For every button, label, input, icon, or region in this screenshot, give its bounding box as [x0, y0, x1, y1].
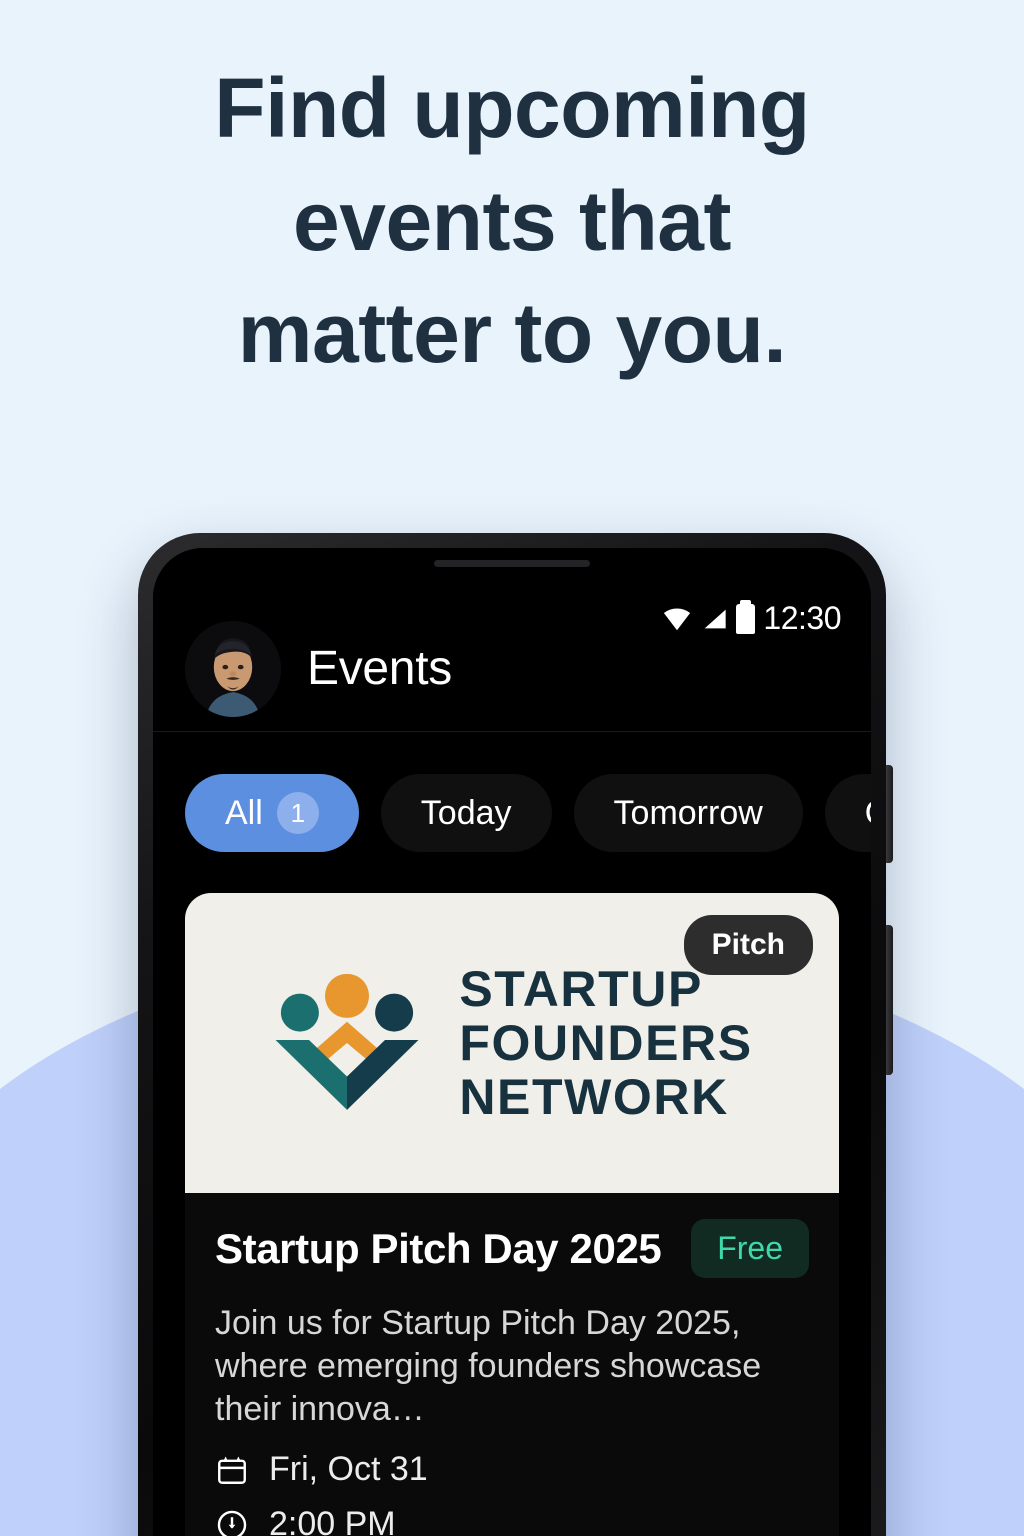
- event-title-row: Startup Pitch Day 2025 Free: [215, 1219, 809, 1278]
- filter-chip-today[interactable]: Today: [381, 774, 552, 852]
- logo-word-3: NETWORK: [459, 1070, 752, 1124]
- filter-chip-all[interactable]: All 1: [185, 774, 359, 852]
- filter-chip-tomorrow-label: Tomorrow: [614, 794, 763, 833]
- event-category-badge: Pitch: [684, 915, 813, 975]
- headline-line-2: events that: [90, 165, 934, 278]
- calendar-icon: [215, 1453, 249, 1487]
- filter-chip-oct3-label: Oct 3: [865, 794, 871, 833]
- startup-founders-network-logo-icon: [271, 973, 423, 1113]
- volume-button[interactable]: [886, 925, 893, 1075]
- event-card-banner: Pitch STARTUP FOUNDERS NETW: [185, 893, 839, 1193]
- clock-icon: [215, 1508, 249, 1536]
- filter-chip-oct3[interactable]: Oct 3: [825, 774, 871, 852]
- headline-line-3: matter to you.: [90, 277, 934, 390]
- app-store-screenshot: Find upcoming events that matter to you.…: [0, 0, 1024, 1536]
- logo-word-2: FOUNDERS: [459, 1016, 752, 1070]
- headline-line-1: Find upcoming: [90, 52, 934, 165]
- event-title: Startup Pitch Day 2025: [215, 1225, 661, 1273]
- event-meta-list: Fri, Oct 31 2:00 PM: [215, 1450, 809, 1536]
- avatar[interactable]: [185, 621, 281, 717]
- event-card-body: Startup Pitch Day 2025 Free Join us for …: [185, 1193, 839, 1536]
- battery-icon: [736, 604, 755, 634]
- logo-wordmark: STARTUP FOUNDERS NETWORK: [459, 962, 752, 1124]
- filter-chip-all-badge: 1: [277, 792, 319, 834]
- event-date-text: Fri, Oct 31: [269, 1450, 428, 1489]
- event-meta-time: 2:00 PM: [215, 1505, 809, 1536]
- event-meta-date: Fri, Oct 31: [215, 1450, 809, 1489]
- wifi-icon: [662, 606, 692, 632]
- event-description: Join us for Startup Pitch Day 2025, wher…: [215, 1302, 809, 1430]
- power-button[interactable]: [886, 765, 893, 863]
- earpiece-speaker: [434, 560, 590, 567]
- cellular-signal-icon: [700, 606, 728, 632]
- phone-mockup: 12:30: [138, 533, 886, 1536]
- page-title: Find upcoming events that matter to you.: [0, 52, 1024, 390]
- filter-chip-today-label: Today: [421, 794, 512, 833]
- event-time-text: 2:00 PM: [269, 1505, 396, 1536]
- app-screen: 12:30: [153, 548, 871, 1536]
- phone-bezel: 12:30: [153, 548, 871, 1536]
- event-card[interactable]: Pitch STARTUP FOUNDERS NETW: [185, 893, 839, 1536]
- filter-chip-all-label: All: [225, 794, 263, 833]
- app-title: Events: [307, 641, 452, 696]
- status-bar-time: 12:30: [763, 600, 841, 637]
- status-bar: 12:30: [662, 600, 841, 637]
- event-price-badge: Free: [691, 1219, 809, 1278]
- filter-chip-row: All 1 Today Tomorrow Oct 3: [153, 774, 871, 852]
- user-avatar-image: [185, 621, 281, 717]
- filter-chip-tomorrow[interactable]: Tomorrow: [574, 774, 803, 852]
